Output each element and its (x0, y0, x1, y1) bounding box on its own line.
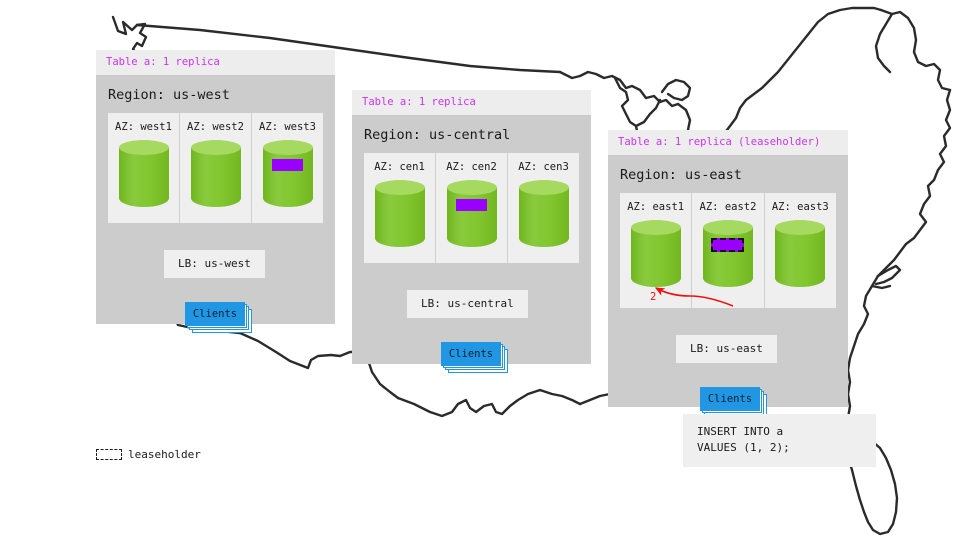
dashed-rectangle-icon (96, 449, 122, 460)
sql-statement-box: INSERT INTO a VALUES (1, 2); (683, 414, 876, 467)
cylinder-top-icon (263, 140, 313, 155)
cylinder-shade-icon (447, 187, 497, 247)
legend: leaseholder (96, 448, 201, 461)
az-strip-us-central: AZ: cen1 AZ: cen2 (364, 153, 579, 263)
cylinder-top-icon (191, 140, 241, 155)
az-label-west3: AZ: west3 (252, 121, 323, 133)
replica-block-east2-leaseholder (711, 238, 744, 252)
clients-card-front[interactable]: Clients (441, 342, 501, 366)
node-cylinder-west2[interactable] (191, 140, 241, 214)
az-label-west2: AZ: west2 (180, 121, 251, 133)
region-header-us-east: Table a: 1 replica (leaseholder) (608, 130, 848, 155)
node-cylinder-east2[interactable] (703, 220, 753, 294)
az-strip-us-west: AZ: west1 AZ: west2 AZ (108, 113, 323, 223)
clients-button-us-west[interactable]: Clients (185, 302, 245, 326)
region-title-us-central: Region: us-central (352, 115, 591, 153)
cylinder-shade-icon (775, 227, 825, 287)
load-balancer-us-west[interactable]: LB: us-west (164, 250, 265, 278)
az-label-cen1: AZ: cen1 (364, 161, 435, 173)
az-label-west1: AZ: west1 (108, 121, 179, 133)
arrow-step-label: 2 (650, 291, 656, 303)
replica-block-west3 (272, 159, 303, 171)
az-cell-west3[interactable]: AZ: west3 (252, 113, 323, 223)
region-panel-us-east: Table a: 1 replica (leaseholder) Region:… (608, 130, 848, 407)
cylinder-shade-icon (631, 227, 681, 287)
node-cylinder-cen1[interactable] (375, 180, 425, 254)
cylinder-shade-icon (119, 147, 169, 207)
region-body-us-east: Region: us-east AZ: east1 AZ: east2 (608, 155, 848, 407)
az-label-east3: AZ: east3 (765, 201, 836, 213)
node-cylinder-cen2[interactable] (447, 180, 497, 254)
cylinder-top-icon (775, 220, 825, 235)
az-label-east2: AZ: east2 (692, 201, 763, 213)
region-body-us-west: Region: us-west AZ: west1 AZ: west2 (96, 75, 335, 324)
az-cell-cen2[interactable]: AZ: cen2 (436, 153, 508, 263)
az-label-east1: AZ: east1 (620, 201, 691, 213)
clients-card-front[interactable]: Clients (185, 302, 245, 326)
node-cylinder-east3[interactable] (775, 220, 825, 294)
region-panel-us-central: Table a: 1 replica Region: us-central AZ… (352, 90, 591, 364)
az-cell-east3[interactable]: AZ: east3 (765, 193, 836, 308)
cylinder-top-icon (703, 220, 753, 235)
region-panel-us-west: Table a: 1 replica Region: us-west AZ: w… (96, 50, 335, 324)
cylinder-top-icon (519, 180, 569, 195)
cylinder-shade-icon (263, 147, 313, 207)
cylinder-shade-icon (703, 227, 753, 287)
clients-button-us-central[interactable]: Clients (441, 342, 501, 366)
az-cell-west2[interactable]: AZ: west2 (180, 113, 252, 223)
node-cylinder-east1[interactable] (631, 220, 681, 294)
load-balancer-us-east[interactable]: LB: us-east (676, 335, 777, 363)
cylinder-shade-icon (375, 187, 425, 247)
load-balancer-us-central[interactable]: LB: us-central (407, 290, 528, 318)
cylinder-shade-icon (519, 187, 569, 247)
diagram-canvas: Table a: 1 replica Region: us-west AZ: w… (0, 0, 960, 540)
az-cell-west1[interactable]: AZ: west1 (108, 113, 180, 223)
clients-button-us-east[interactable]: Clients (700, 387, 760, 411)
legend-label: leaseholder (128, 448, 201, 461)
az-label-cen3: AZ: cen3 (508, 161, 579, 173)
region-title-us-west: Region: us-west (96, 75, 335, 113)
az-cell-cen1[interactable]: AZ: cen1 (364, 153, 436, 263)
region-header-us-west: Table a: 1 replica (96, 50, 335, 75)
replica-block-cen2 (456, 199, 487, 211)
region-title-us-east: Region: us-east (608, 155, 848, 193)
cylinder-top-icon (375, 180, 425, 195)
region-body-us-central: Region: us-central AZ: cen1 AZ: cen2 (352, 115, 591, 364)
node-cylinder-west3[interactable] (263, 140, 313, 214)
az-label-cen2: AZ: cen2 (436, 161, 507, 173)
cylinder-shade-icon (191, 147, 241, 207)
region-header-us-central: Table a: 1 replica (352, 90, 591, 115)
az-cell-east2[interactable]: AZ: east2 (692, 193, 764, 308)
az-cell-cen3[interactable]: AZ: cen3 (508, 153, 579, 263)
cylinder-top-icon (447, 180, 497, 195)
node-cylinder-west1[interactable] (119, 140, 169, 214)
node-cylinder-cen3[interactable] (519, 180, 569, 254)
cylinder-top-icon (119, 140, 169, 155)
cylinder-top-icon (631, 220, 681, 235)
clients-card-front[interactable]: Clients (700, 387, 760, 411)
